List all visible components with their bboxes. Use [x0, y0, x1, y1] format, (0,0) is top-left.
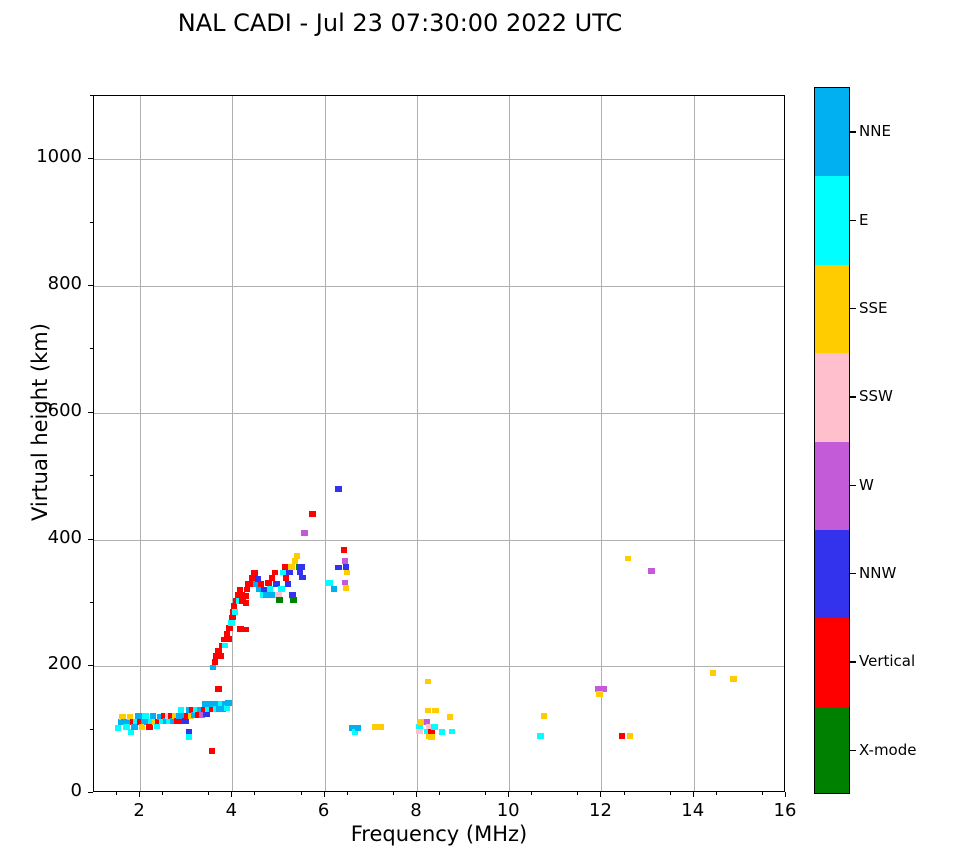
echo-mark [217, 653, 223, 659]
x-tick-label: 6 [294, 800, 354, 821]
colorbar-label-w: W [859, 476, 874, 494]
x-tick-minor [162, 792, 163, 795]
x-tick-label: 4 [201, 800, 261, 821]
echo-mark [428, 734, 434, 740]
echo-mark [225, 700, 231, 706]
colorbar-tick [850, 220, 856, 221]
echo-mark [625, 556, 631, 562]
x-tick-minor [670, 792, 671, 795]
echo-mark [115, 725, 121, 731]
y-axis-label: Virtual height (km) [28, 252, 52, 592]
echo-mark [215, 686, 221, 692]
echo-mark [331, 586, 337, 592]
echo-mark [294, 553, 300, 559]
echo-mark [627, 733, 633, 739]
echo-mark [285, 581, 291, 587]
x-tick-minor [254, 792, 255, 795]
y-tick-minor [90, 222, 93, 223]
x-tick-minor [116, 792, 117, 795]
colorbar-segment-ssw [815, 353, 849, 442]
colorbar-tick [850, 308, 856, 309]
y-tick [88, 539, 93, 540]
echo-mark [730, 676, 736, 682]
colorbar-label-e: E [859, 211, 868, 229]
x-tick [231, 792, 232, 797]
echo-mark [225, 636, 231, 642]
echo-mark [186, 734, 192, 740]
echo-mark [139, 724, 145, 730]
colorbar-segment-nnw [815, 530, 849, 619]
data-layer [94, 96, 784, 791]
echo-mark [355, 725, 361, 731]
x-tick-minor [347, 792, 348, 795]
echo-mark [228, 620, 234, 626]
echo-mark [301, 530, 307, 536]
echo-mark [276, 597, 282, 603]
x-tick [785, 792, 786, 797]
echo-mark [710, 670, 716, 676]
echo-mark [278, 586, 284, 592]
echo-mark [212, 659, 218, 665]
y-tick-label: 1000 [12, 146, 82, 167]
y-tick [88, 665, 93, 666]
echo-mark [299, 575, 305, 581]
echo-mark [335, 486, 341, 492]
x-tick [693, 792, 694, 797]
x-tick-minor [485, 792, 486, 795]
x-tick-label: 12 [570, 800, 630, 821]
echo-mark [243, 627, 249, 633]
echo-mark [232, 609, 238, 615]
echo-mark [146, 724, 152, 730]
echo-mark [131, 724, 137, 730]
echo-mark [425, 679, 431, 685]
y-tick [88, 285, 93, 286]
colorbar-label-x-mode: X-mode [859, 741, 916, 759]
x-tick-minor [531, 792, 532, 795]
y-tick-minor [90, 602, 93, 603]
y-tick [88, 792, 93, 793]
echo-mark [128, 729, 134, 735]
x-tick-minor [393, 792, 394, 795]
y-tick-minor [90, 348, 93, 349]
y-tick-label: 0 [12, 780, 82, 801]
colorbar-label-ssw: SSW [859, 387, 893, 405]
echo-mark [210, 665, 216, 671]
echo-mark [343, 585, 349, 591]
colorbar-tick [850, 485, 856, 486]
x-tick-label: 10 [478, 800, 538, 821]
colorbar-label-nne: NNE [859, 122, 891, 140]
colorbar-segment-nne [815, 88, 849, 177]
colorbar-segment-e [815, 176, 849, 265]
echo-mark [298, 564, 304, 570]
x-tick-minor [716, 792, 717, 795]
echo-mark [209, 748, 215, 754]
x-tick [508, 792, 509, 797]
x-tick-label: 14 [663, 800, 723, 821]
echo-mark [226, 625, 232, 631]
colorbar-tick [850, 131, 856, 132]
y-tick-minor [90, 729, 93, 730]
x-tick-label: 8 [386, 800, 446, 821]
y-tick-minor [90, 475, 93, 476]
echo-mark [449, 729, 455, 735]
x-tick-minor [301, 792, 302, 795]
echo-mark [432, 708, 438, 714]
echo-mark [541, 713, 547, 719]
echo-mark [335, 565, 341, 571]
echo-mark [425, 708, 431, 714]
colorbar-tick [850, 661, 856, 662]
echo-mark [344, 570, 350, 576]
echo-mark [341, 547, 347, 553]
echo-mark [619, 733, 625, 739]
echo-mark [439, 729, 445, 735]
echo-mark [378, 724, 384, 730]
echo-mark [648, 568, 654, 574]
x-axis-label: Frequency (MHz) [93, 822, 785, 846]
x-tick-minor [577, 792, 578, 795]
echo-mark [309, 511, 315, 517]
x-tick [139, 792, 140, 797]
x-tick [324, 792, 325, 797]
colorbar-tick [850, 573, 856, 574]
echo-mark [229, 615, 235, 621]
echo-mark [182, 718, 188, 724]
echo-mark [447, 714, 453, 720]
echo-mark [154, 724, 160, 730]
colorbar-label-vertical: Vertical [859, 652, 915, 670]
colorbar-segment-vertical [815, 618, 849, 707]
colorbar-label-sse: SSE [859, 299, 888, 317]
colorbar-segment-w [815, 442, 849, 531]
echo-mark [290, 597, 296, 603]
colorbar [814, 87, 850, 794]
colorbar-tick [850, 750, 856, 751]
y-tick [88, 412, 93, 413]
echo-mark [288, 564, 294, 570]
x-tick-minor [762, 792, 763, 795]
x-tick-label: 2 [109, 800, 169, 821]
x-tick-label: 16 [755, 800, 815, 821]
y-tick-minor [90, 95, 93, 96]
x-tick-minor [624, 792, 625, 795]
echo-mark [243, 600, 249, 606]
echo-mark [224, 705, 230, 711]
x-tick [416, 792, 417, 797]
echo-mark [431, 724, 437, 730]
colorbar-segment-sse [815, 265, 849, 354]
echo-mark [416, 729, 422, 735]
y-tick-label: 200 [12, 653, 82, 674]
x-tick [600, 792, 601, 797]
x-tick-minor [439, 792, 440, 795]
echo-mark [203, 712, 209, 718]
x-tick-minor [208, 792, 209, 795]
echo-mark [596, 691, 602, 697]
echo-mark [286, 570, 292, 576]
echo-mark [244, 587, 250, 593]
colorbar-segment-x-mode [815, 707, 849, 794]
echo-mark [272, 570, 278, 576]
colorbar-label-nnw: NNW [859, 564, 896, 582]
ionogram-figure: NAL CADI - Jul 23 07:30:00 2022 UTC 2468… [0, 0, 958, 857]
echo-mark [222, 643, 228, 649]
echo-mark [242, 593, 248, 599]
colorbar-tick [850, 396, 856, 397]
y-tick [88, 158, 93, 159]
echo-mark [537, 733, 543, 739]
plot-area [93, 95, 785, 792]
page-title: NAL CADI - Jul 23 07:30:00 2022 UTC [0, 9, 800, 37]
